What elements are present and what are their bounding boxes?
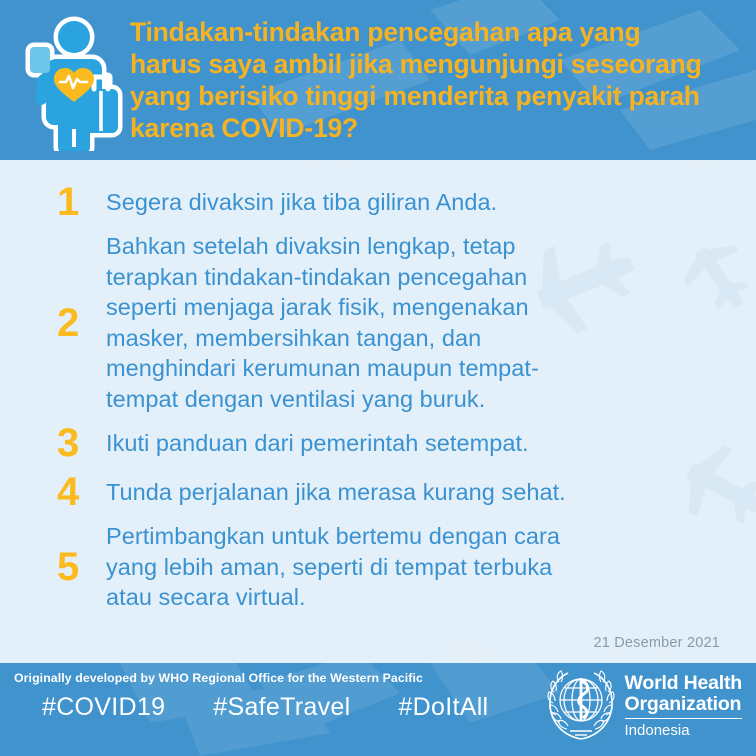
title-line-4: karena COVID-19? [130, 112, 738, 144]
list-item: 1 Segera divaksin jika tiba giliran Anda… [50, 182, 720, 222]
text-line: Pertimbangkan untuk bertemu dengan cara [106, 521, 720, 552]
infographic-poster: Tindakan-tindakan pencegahan apa yang ha… [0, 0, 756, 756]
who-logo: World Health Organization Indonesia [544, 669, 743, 743]
text-line: atau secara virtual. [106, 582, 720, 613]
list-item-number: 3 [50, 423, 106, 463]
list-item: 2 Bahkan setelah divaksin lengkap, tetap… [50, 231, 720, 414]
page-title: Tindakan-tindakan pencegahan apa yang ha… [130, 11, 738, 144]
list-item-text: Bahkan setelah divaksin lengkap, tetap t… [106, 231, 720, 414]
attribution-text: Originally developed by WHO Regional Off… [14, 671, 423, 685]
list-item-text: Pertimbangkan untuk bertemu dengan cara … [106, 521, 720, 613]
header-band: Tindakan-tindakan pencegahan apa yang ha… [0, 0, 756, 160]
text-line: yang lebih aman, seperti di tempat terbu… [106, 552, 720, 583]
who-line-1: World Health [625, 673, 743, 694]
text-line: seperti menjaga jarak fisik, mengenakan [106, 292, 720, 323]
text-line: Tunda perjalanan jika merasa kurang seha… [106, 477, 720, 508]
text-line: terapkan tindakan-tindakan pencegahan [106, 262, 720, 293]
list-item-number: 1 [50, 182, 106, 222]
who-line-2: Organization [625, 694, 743, 715]
hashtag-safetravel[interactable]: #SafeTravel [213, 693, 350, 722]
list-item: 4 Tunda perjalanan jika merasa kurang se… [50, 472, 720, 512]
text-line: menghindari kerumunan maupun tempat- [106, 353, 720, 384]
traveler-with-suitcase-icon [18, 11, 126, 151]
list-item-number: 5 [50, 547, 106, 587]
list-item: 3 Ikuti panduan dari pemerintah setempat… [50, 423, 720, 463]
list-item-number: 2 [50, 303, 106, 343]
who-country-label: Indonesia [625, 722, 743, 739]
text-line: Ikuti panduan dari pemerintah setempat. [106, 428, 720, 459]
publication-date: 21 Desember 2021 [593, 635, 720, 651]
recommendation-list: 1 Segera divaksin jika tiba giliran Anda… [0, 160, 756, 663]
list-item-text: Tunda perjalanan jika merasa kurang seha… [106, 477, 720, 508]
list-item-text: Ikuti panduan dari pemerintah setempat. [106, 428, 720, 459]
text-line: Segera divaksin jika tiba giliran Anda. [106, 187, 720, 218]
text-line: Bahkan setelah divaksin lengkap, tetap [106, 231, 720, 262]
who-wordmark: World Health Organization Indonesia [625, 669, 743, 739]
text-line: masker, membersihkan tangan, dan [106, 323, 720, 354]
title-line-1: Tindakan-tindakan pencegahan apa yang [130, 16, 738, 48]
hashtag-doitall[interactable]: #DoItAll [398, 693, 488, 722]
footer-band: Originally developed by WHO Regional Off… [0, 663, 756, 756]
list-item-number: 4 [50, 472, 106, 512]
list-item: 5 Pertimbangkan untuk bertemu dengan car… [50, 521, 720, 613]
text-line: tempat dengan ventilasi yang buruk. [106, 384, 720, 415]
hashtag-row: #COVID19 #SafeTravel #DoItAll [42, 693, 488, 722]
who-emblem-icon [544, 669, 618, 743]
hashtag-covid19[interactable]: #COVID19 [42, 693, 165, 722]
title-line-2: harus saya ambil jika mengunjungi seseor… [130, 48, 738, 80]
list-item-text: Segera divaksin jika tiba giliran Anda. [106, 187, 720, 218]
who-divider [625, 718, 743, 719]
title-line-3: yang berisiko tinggi menderita penyakit … [130, 80, 738, 112]
